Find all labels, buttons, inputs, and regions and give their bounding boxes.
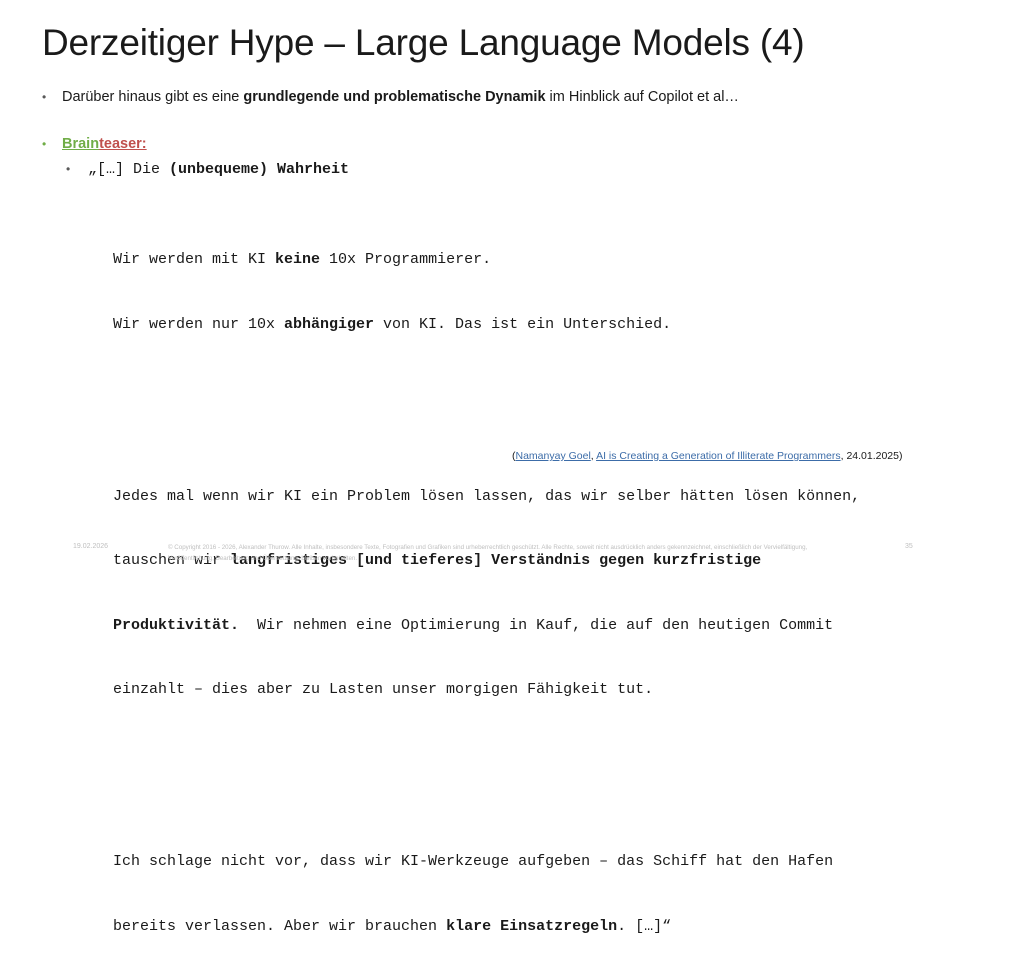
footer-date: 19.02.2026 xyxy=(73,543,108,550)
quote-line-8-a: bereits verlassen. Aber wir brauchen xyxy=(113,918,446,935)
quote-line-8-bold: klare Einsatzregeln xyxy=(446,918,617,935)
footer-copyright: © Copyright 2016 - 2026, Alexander Thuro… xyxy=(168,542,818,564)
quote-line-8-c: . […]“ xyxy=(617,918,671,935)
quote-line-1-bold: keine xyxy=(275,251,320,268)
quote-head-bold: (unbequeme) Wahrheit xyxy=(169,161,349,178)
source-date: 24.01.2025 xyxy=(846,450,899,462)
quote-spacer xyxy=(113,765,860,787)
quote-line-1: Wir werden mit KI keine 10x Programmiere… xyxy=(113,249,860,271)
bullet-dot-icon: • xyxy=(66,162,88,176)
bullet-intro: • Darüber hinaus gibt es eine grundlegen… xyxy=(42,89,739,105)
quote-head-plain: „[…] Die xyxy=(88,161,169,178)
quote-head-text: „[…] Die (unbequeme) Wahrheit xyxy=(88,161,349,178)
quote-line-2-c: von KI. Das ist ein Unterschied. xyxy=(374,316,671,333)
quote-line-3: Jedes mal wenn wir KI ein Problem lösen … xyxy=(113,486,860,508)
quote-line-2-bold: abhängiger xyxy=(284,316,374,333)
bullet-intro-after: im Hinblick auf Copilot et al… xyxy=(546,89,739,105)
bullet-intro-text: Darüber hinaus gibt es eine grundlegende… xyxy=(62,89,739,105)
quote-line-5-bold: Produktivität. xyxy=(113,617,239,634)
quote-line-8: bereits verlassen. Aber wir brauchen kla… xyxy=(113,916,860,938)
brainteaser-label: Brainteaser: xyxy=(62,136,147,152)
quote-line-2: Wir werden nur 10x abhängiger von KI. Da… xyxy=(113,314,860,336)
page-title: Derzeitiger Hype – Large Language Models… xyxy=(42,22,804,64)
quote-line-1-a: Wir werden mit KI xyxy=(113,251,275,268)
bullet-dot-icon: • xyxy=(42,138,62,150)
bullet-intro-before: Darüber hinaus gibt es eine xyxy=(62,89,243,105)
quote-spacer xyxy=(113,400,860,422)
source-close-paren: ) xyxy=(899,450,903,462)
bullet-quote-head: • „[…] Die (unbequeme) Wahrheit xyxy=(66,161,349,178)
brainteaser-red-part: teaser: xyxy=(99,136,147,152)
quote-line-6: einzahlt – dies aber zu Lasten unser mor… xyxy=(113,679,860,701)
bullet-intro-bold: grundlegende und problematische Dynamik xyxy=(243,89,545,105)
slide-canvas: Derzeitiger Hype – Large Language Models… xyxy=(0,0,1024,574)
source-author-link[interactable]: Namanyay Goel xyxy=(516,450,591,462)
quote-line-1-c: 10x Programmierer. xyxy=(320,251,491,268)
source-article-link[interactable]: AI is Creating a Generation of Illiterat… xyxy=(596,450,841,462)
quote-body: Wir werden mit KI keine 10x Programmiere… xyxy=(113,206,860,980)
quote-line-2-a: Wir werden nur 10x xyxy=(113,316,284,333)
quote-line-5-b: Wir nehmen eine Optimierung in Kauf, die… xyxy=(239,617,833,634)
bullet-brainteaser: • Brainteaser: xyxy=(42,136,147,152)
footer-page-number: 35 xyxy=(905,543,913,550)
bullet-dot-icon: • xyxy=(42,91,62,103)
brainteaser-green-part: Brain xyxy=(62,136,99,152)
source-citation: (Namanyay Goel, AI is Creating a Generat… xyxy=(512,450,903,462)
quote-line-5: Produktivität. Wir nehmen eine Optimieru… xyxy=(113,615,860,637)
quote-line-7: Ich schlage nicht vor, dass wir KI-Werkz… xyxy=(113,851,860,873)
